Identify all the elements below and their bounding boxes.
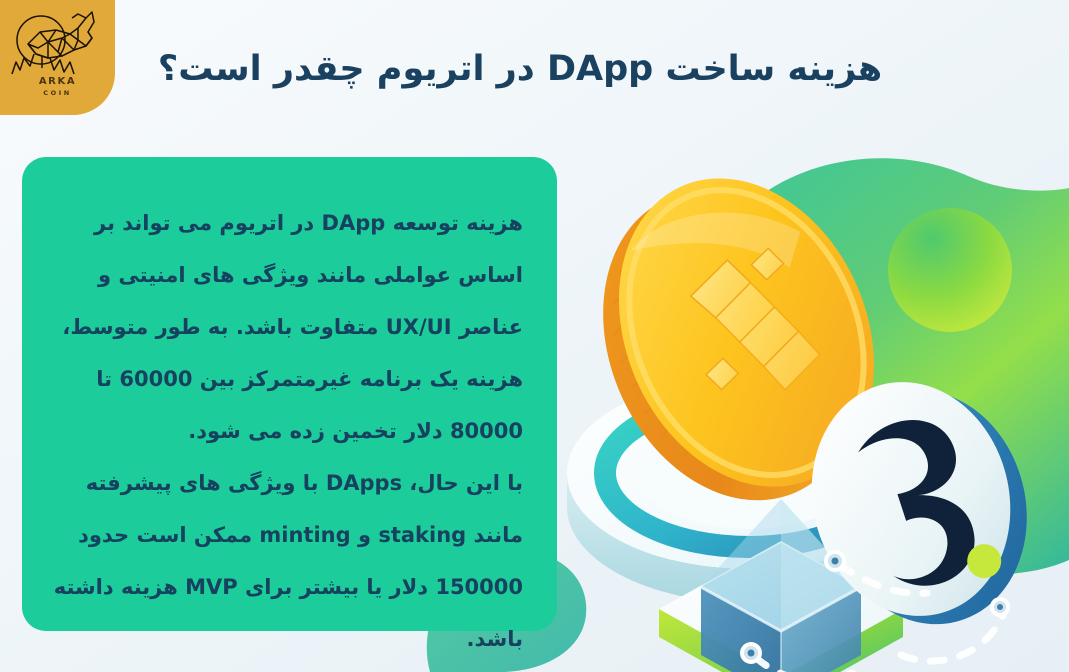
dashed-connector-path [755, 565, 1003, 672]
content-paragraph-1: هزینه توسعه DApp در اتریوم می تواند بر ا… [52, 197, 523, 457]
ethereum-dapp-illustration [545, 95, 1069, 672]
glass-cube-on-slab [659, 499, 903, 672]
gold-ethereum-coin [554, 138, 924, 542]
web3-ring-badge [787, 357, 1051, 648]
connector-nodes [740, 550, 1010, 664]
logo-subtitle: COIN [0, 89, 115, 97]
bull-icon [8, 4, 108, 84]
teal-white-disc-platform [567, 377, 931, 603]
glass-cube-block [701, 499, 861, 672]
arka-coin-logo[interactable]: ARKA COIN [0, 0, 115, 115]
content-card: هزینه توسعه DApp در اتریوم می تواند بر ا… [22, 157, 557, 631]
page-title: هزینه ساخت DApp در اتریوم چقدر است؟ [130, 48, 910, 92]
poster-canvas: ARKA COIN هزینه ساخت DApp در اتریوم چقدر… [0, 0, 1069, 672]
logo-name: ARKA [0, 76, 115, 87]
content-paragraph-2: با این حال، DApps با ویژگی های پیشرفته م… [52, 457, 523, 665]
